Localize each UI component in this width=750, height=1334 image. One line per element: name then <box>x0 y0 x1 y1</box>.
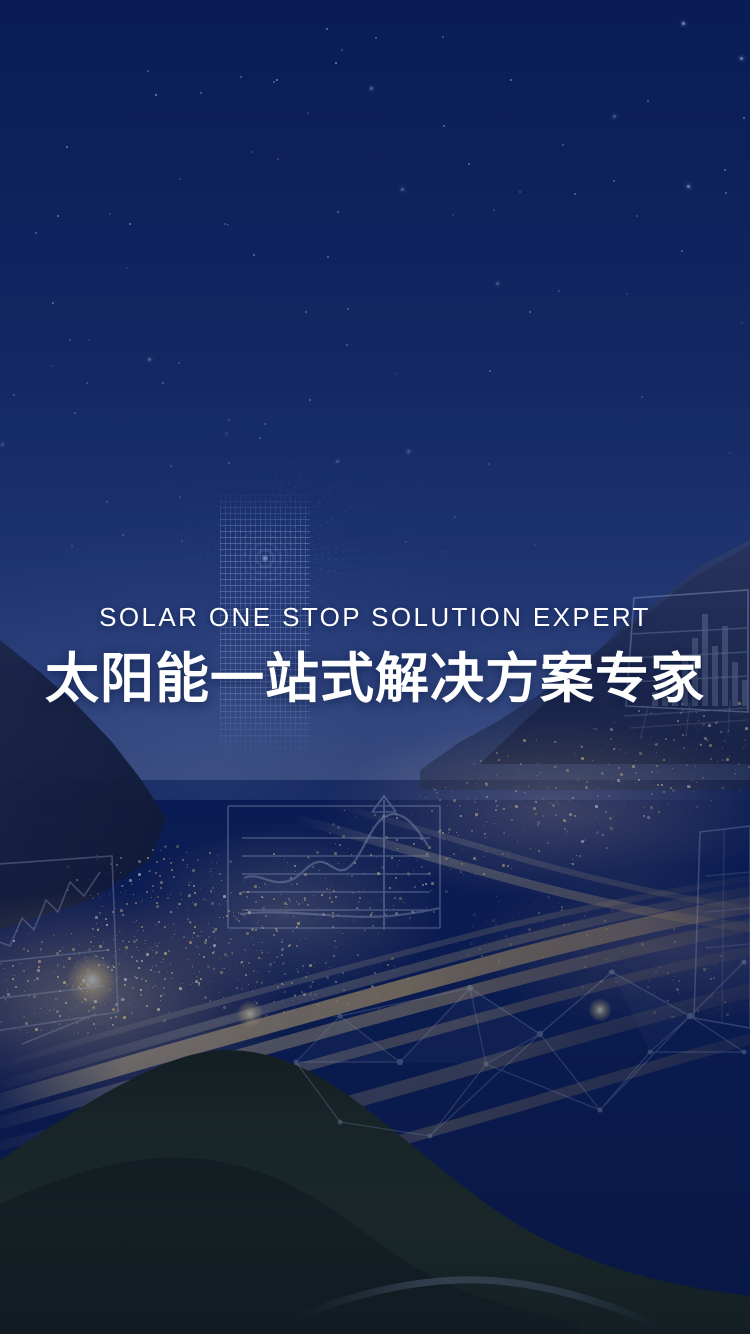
right-edge-panel <box>694 826 750 1028</box>
hero-eyebrow: SOLAR ONE STOP SOLUTION EXPERT <box>0 600 750 634</box>
line-chart-panel <box>228 796 440 930</box>
page-title: 太阳能一站式解决方案专家 <box>0 646 750 712</box>
mesh-shards <box>296 972 690 1064</box>
hero-copy: SOLAR ONE STOP SOLUTION EXPERT 太阳能一站式解决方… <box>0 600 750 712</box>
mini-chart-panel-left <box>0 856 118 1044</box>
hero-banner: SOLAR ONE STOP SOLUTION EXPERT 太阳能一站式解决方… <box>0 0 750 1334</box>
